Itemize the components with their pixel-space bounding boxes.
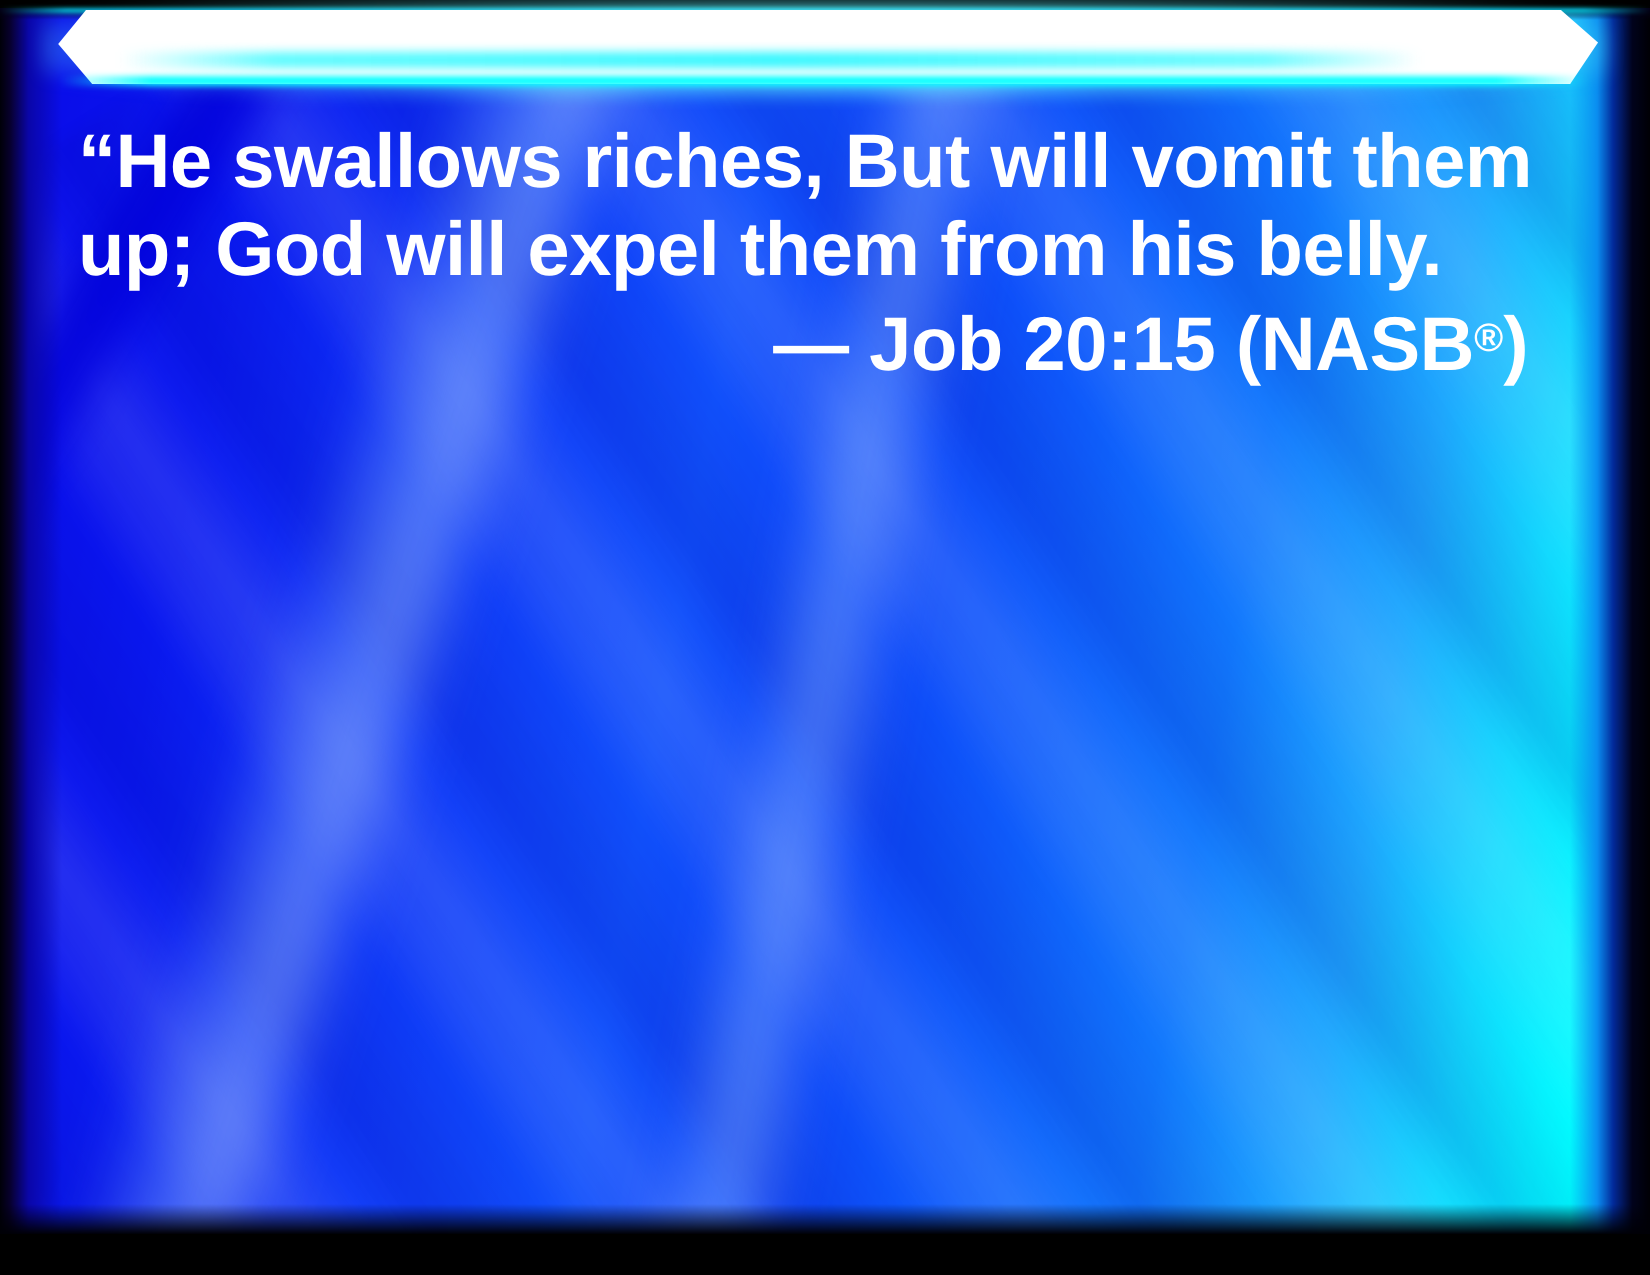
scripture-slide: “He swallows riches, But will vomit them… [0,0,1650,1275]
background-edge-vignette-bottom [0,1204,1650,1234]
verse-line-2: up; God will expel them from his belly. [78,206,1528,294]
verse-reference-close-paren: ) [1503,302,1528,387]
verse-line-1: “He swallows riches, But will vomit them [78,118,1528,206]
registered-trademark-icon: ® [1474,316,1503,360]
verse-reference: — Job 20:15 (NASB®) [78,294,1528,389]
verse-reference-text: — Job 20:15 (NASB [773,302,1474,387]
verse-text-block: “He swallows riches, But will vomit them… [78,118,1528,389]
background-edge-vignette-right [1570,8,1650,1234]
background-edge-vignette-top [0,8,1650,20]
background-edge-vignette-left [0,8,62,1234]
